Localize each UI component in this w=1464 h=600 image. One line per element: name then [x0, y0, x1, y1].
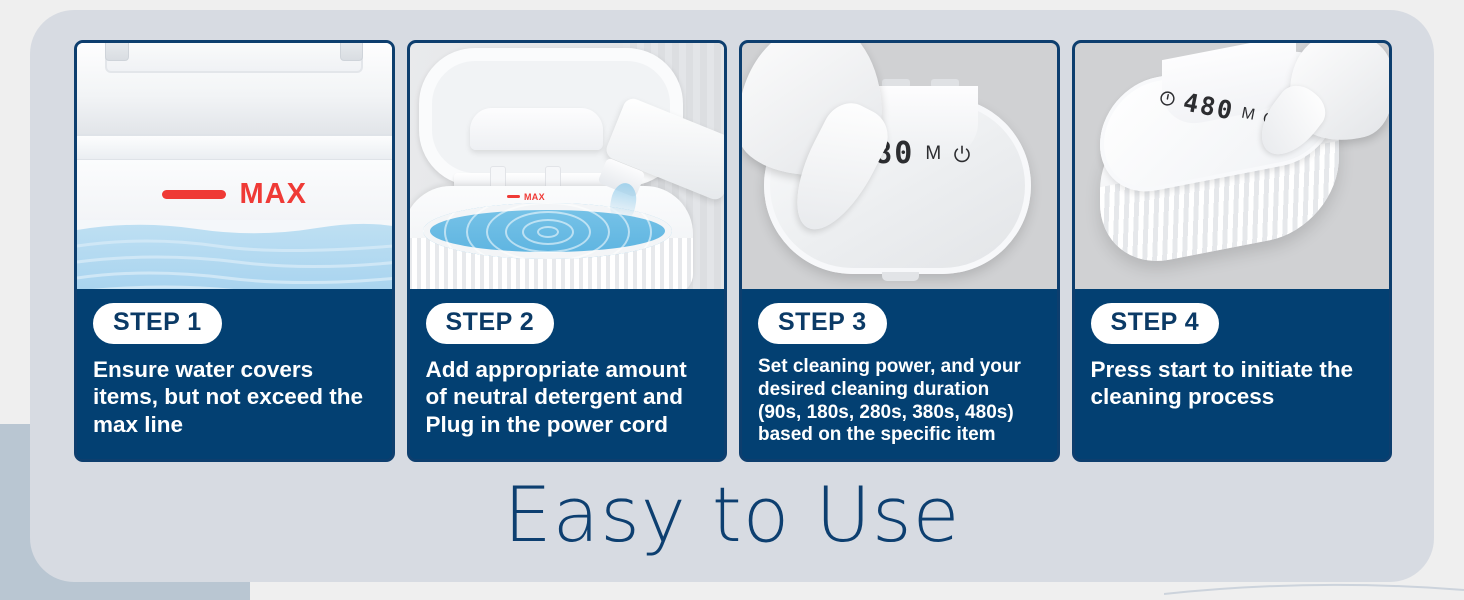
- power-icon: [952, 144, 972, 164]
- step-card-2[interactable]: MAX STEP 2 Add appropriate amount of neu…: [407, 40, 728, 462]
- max-line-dash: [162, 190, 226, 199]
- water-basin: [423, 203, 672, 259]
- step-3-text-line: desired cleaning duration: [758, 379, 1041, 402]
- max-line-marker-small: MAX: [507, 192, 545, 202]
- step-card-1[interactable]: MAX STEP 1 Ensure water cov: [74, 40, 395, 462]
- max-label: MAX: [524, 192, 545, 202]
- step-4-text: Press start to initiate the cleaning pro…: [1091, 356, 1374, 411]
- step-3-text: Set cleaning power, and your desired cle…: [758, 356, 1041, 447]
- step-4-image: 480 M: [1075, 43, 1390, 289]
- step-card-3[interactable]: 480 M: [739, 40, 1060, 462]
- step-3-text-line: (90s, 180s, 280s, 380s, 480s): [758, 402, 1041, 425]
- step-2-badge: STEP 2: [426, 303, 555, 344]
- step-card-4[interactable]: 480 M S: [1072, 40, 1393, 462]
- steps-row: MAX STEP 1 Ensure water cov: [74, 40, 1392, 462]
- step-3-badge: STEP 3: [758, 303, 887, 344]
- step-3-image: 480 M: [742, 43, 1057, 289]
- step-3-body: STEP 3 Set cleaning power, and your desi…: [742, 289, 1057, 459]
- max-line-dash: [507, 195, 520, 198]
- step-2-image: MAX: [410, 43, 725, 289]
- max-line-marker: MAX: [77, 178, 392, 211]
- step-4-body: STEP 4 Press start to initiate the clean…: [1075, 289, 1390, 459]
- step-1-image: MAX: [77, 43, 392, 289]
- step-1-badge: STEP 1: [93, 303, 222, 344]
- promo-banner: MAX STEP 1 Ensure water cov: [0, 0, 1464, 600]
- step-1-text: Ensure water covers items, but not excee…: [93, 356, 376, 438]
- step-4-badge: STEP 4: [1091, 303, 1220, 344]
- page-title: Easy to Use: [0, 470, 1464, 559]
- step-2-text: Add appropriate amount of neutral deterg…: [426, 356, 709, 438]
- timer-unit: M: [925, 143, 941, 165]
- water-level: [77, 220, 392, 289]
- timer-icon: [1157, 89, 1177, 109]
- timer-unit: M: [1240, 105, 1257, 125]
- step-3-text-line: based on the specific item: [758, 424, 1041, 447]
- step-1-body: STEP 1 Ensure water covers items, but no…: [77, 289, 392, 459]
- step-2-body: STEP 2 Add appropriate amount of neutral…: [410, 289, 725, 459]
- step-3-text-line: Set cleaning power, and your: [758, 356, 1041, 379]
- max-label: MAX: [240, 178, 307, 211]
